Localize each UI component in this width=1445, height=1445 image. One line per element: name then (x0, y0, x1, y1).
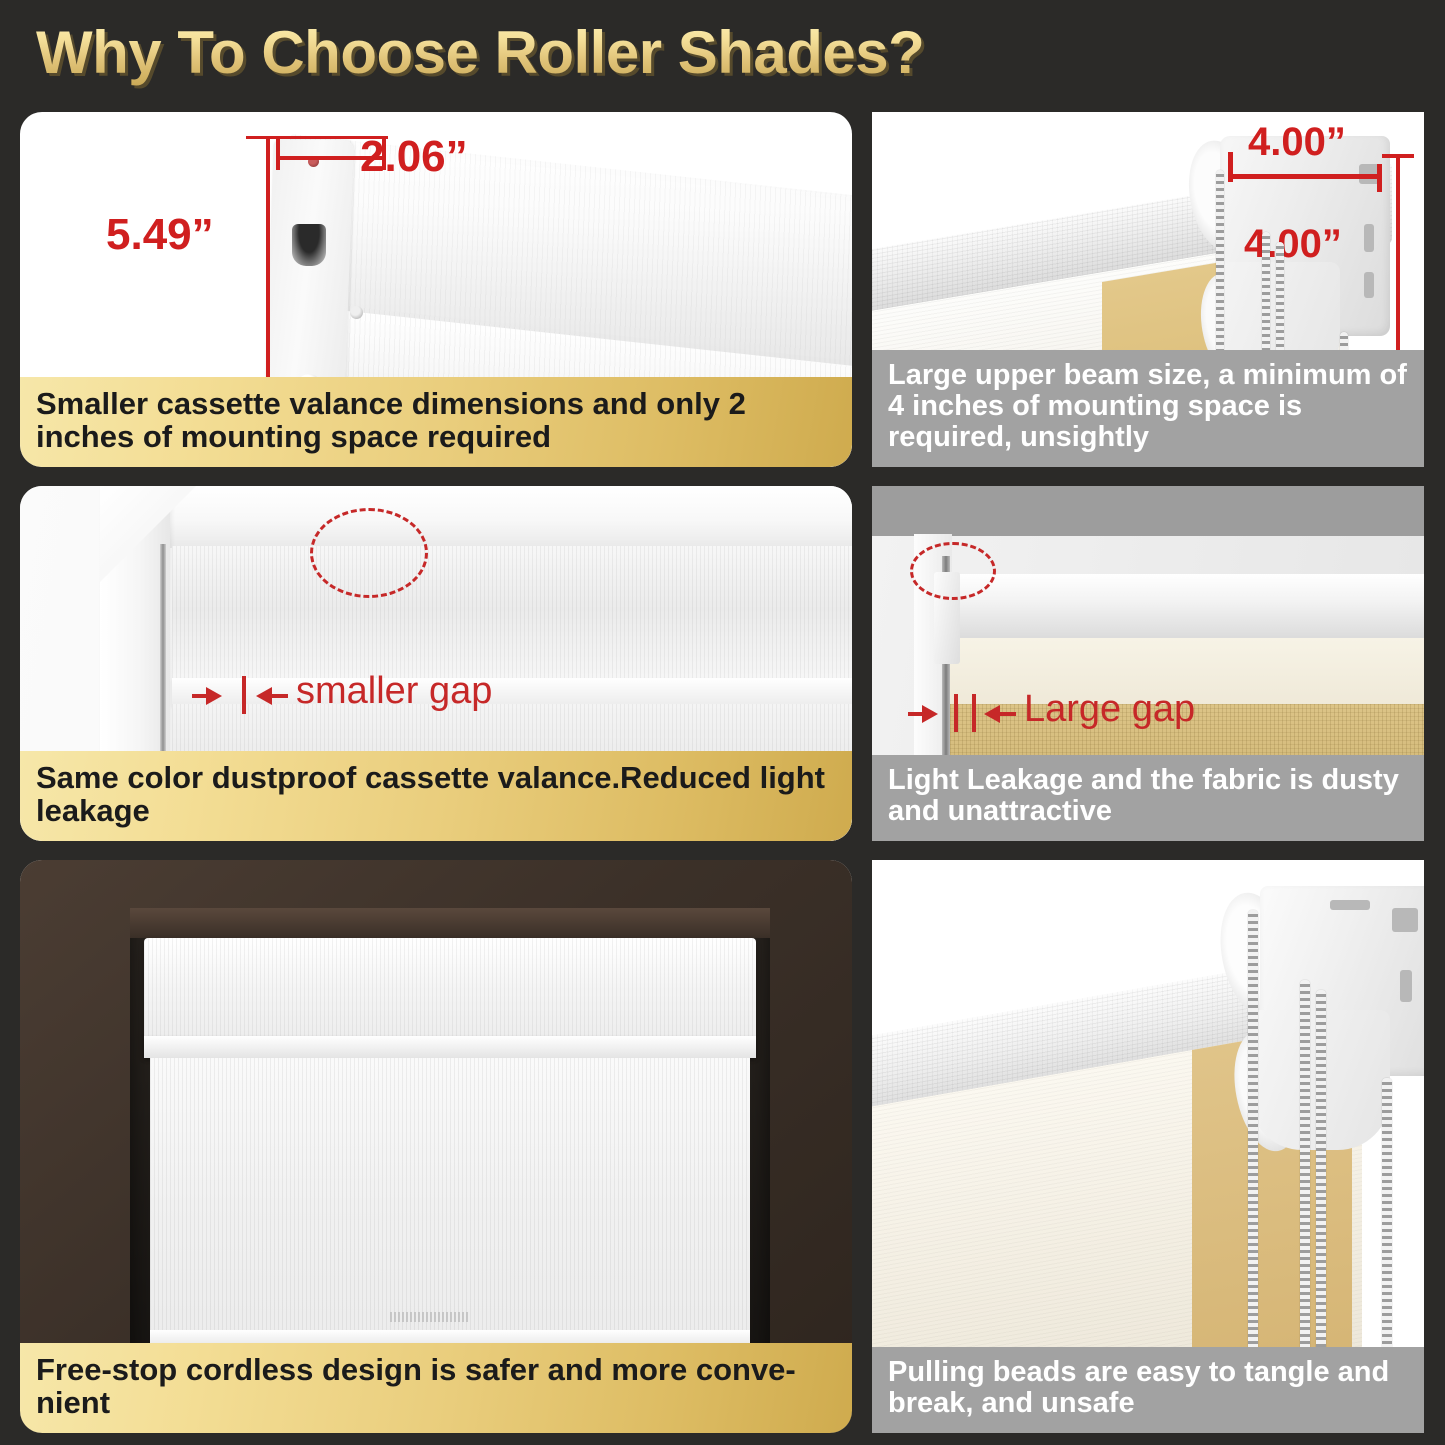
infographic-root: Why To Choose Roller Shades? Why To Choo… (0, 0, 1445, 1445)
shade-middle-rail (172, 678, 852, 706)
gap-arrow-left-stem (270, 694, 288, 698)
height-dimension-label: 5.49” (106, 210, 214, 260)
beam-height-dimension-line (1396, 154, 1400, 356)
panel-pulling-beads: Pulling beads are easy to tangle and bre… (872, 860, 1424, 1433)
gap-marker-bar (242, 676, 246, 714)
panel-large-upper-beam: 4.00” 4.00” Large upper beam size, a min… (872, 112, 1424, 467)
pull-bead-chain-left (1248, 910, 1258, 1422)
shade-brand-logo (390, 1312, 468, 1322)
panel-grid: 2.06” 5.49” Smaller cassette valance dim… (0, 104, 1445, 1445)
smaller-gap-label: smaller gap (296, 670, 492, 713)
page-title: Why To Choose Roller Shades? (36, 18, 924, 87)
valance-small-screw-icon (350, 306, 363, 319)
panel-caption-cassette-dimensions: Smaller cassette valance dimensions and … (20, 377, 852, 467)
shade-fabric-body (150, 1058, 750, 1348)
large-gap-marker-bar-2 (972, 694, 976, 732)
panel-caption-light-leakage: Light Leakage and the fabric is dusty an… (872, 755, 1424, 841)
panel-caption-dustproof-cassette: Same color dustproof cassette valance.Re… (20, 751, 852, 841)
panel-dustproof-cassette: smaller gap Same color dustproof cassett… (20, 486, 852, 841)
large-gap-arrow-right-stem (908, 712, 926, 716)
panel-cassette-dimensions: 2.06” 5.49” Smaller cassette valance dim… (20, 112, 852, 467)
height-dimension-tick-top (246, 136, 282, 139)
panel-cordless-design: Free-stop cordless design is safer and m… (20, 860, 852, 1433)
bracket-notch-icon-3 (1364, 272, 1374, 298)
highlight-circle-icon (310, 508, 428, 598)
beam-width-dimension-line (1230, 174, 1382, 179)
leakage-beam (950, 574, 1424, 642)
window-header-trim (130, 908, 770, 938)
panel-caption-pulling-beads: Pulling beads are easy to tangle and bre… (872, 1347, 1424, 1433)
gap-arrow-right-stem (192, 694, 210, 698)
beam-width-tick-right (1377, 164, 1382, 192)
panel-caption-large-upper-beam: Large upper beam size, a minimum of 4 in… (872, 350, 1424, 467)
leakage-highlight-circle-icon (910, 542, 996, 600)
valance-slot-icon (292, 224, 326, 266)
window-frame-top (100, 486, 852, 548)
bead-bracket-notch-1 (1392, 908, 1418, 932)
panel-light-leakage: Large gap Light Leakage and the fabric i… (872, 486, 1424, 841)
shade-valance-top (172, 546, 852, 678)
width-dimension-label: 2.06” (360, 132, 468, 182)
panel-caption-cordless-design: Free-stop cordless design is safer and m… (20, 1343, 852, 1433)
beam-width-dimension-label: 4.00” (1248, 120, 1346, 165)
beam-width-tick-left (1228, 152, 1233, 182)
large-gap-label: Large gap (1024, 688, 1195, 731)
width-dimension-tick-left (276, 136, 280, 170)
beam-height-tick-top (1382, 154, 1414, 158)
bracket-notch-icon-2 (1364, 224, 1374, 252)
large-gap-marker-bar-1 (954, 694, 958, 732)
bead-bracket-notch-3 (1330, 900, 1370, 910)
leakage-ceiling-band (872, 486, 1424, 536)
shade-valance-lip (144, 1036, 756, 1058)
bead-bracket-notch-2 (1400, 970, 1412, 1002)
large-gap-arrow-left-stem (998, 712, 1016, 716)
beam-height-dimension-label: 4.00” (1244, 222, 1342, 267)
